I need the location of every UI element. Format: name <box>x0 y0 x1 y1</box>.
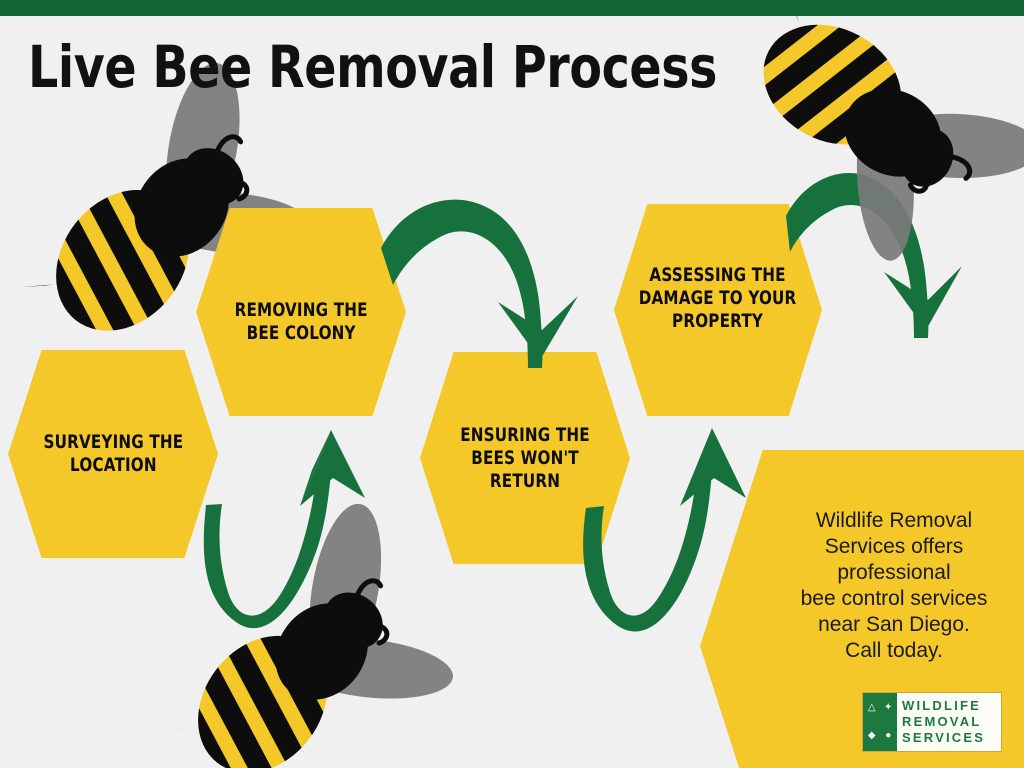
arrow-step2-to-step3 <box>381 200 578 368</box>
bird-icon: △ <box>864 694 880 722</box>
bee-wing-lower <box>283 631 456 706</box>
deer-icon: ✦ <box>881 694 897 722</box>
logo-line-removal: REMOVAL <box>902 714 1001 730</box>
bee-stinger <box>160 712 194 746</box>
top-green-bar <box>0 0 1024 16</box>
step-hexagon-surveying-the-location[interactable]: SURVEYING THE LOCATION <box>8 350 218 558</box>
rodent-icon: ● <box>881 723 897 751</box>
raccoon-icon: ◆ <box>864 723 880 751</box>
bee-wing-lower <box>852 99 919 263</box>
infographic-canvas: Live Bee Removal Process <box>0 0 1024 768</box>
logo-wordmark: WILDLIFE REMOVAL SERVICES <box>897 693 1001 751</box>
bee-head <box>172 136 254 216</box>
bee-head <box>313 581 394 660</box>
step-hexagon-removing-the-bee-colony[interactable]: REMOVING THE BEE COLONY <box>196 208 406 416</box>
step-label: SURVEYING THE LOCATION <box>43 431 183 477</box>
step-hexagon-assessing-the-damage-to-your-property[interactable]: ASSESSING THE DAMAGE TO YOUR PROPERTY <box>614 204 822 416</box>
bee-thorax <box>829 72 957 193</box>
bee-antenna-right <box>909 173 930 194</box>
bee-antenna-left <box>215 133 241 161</box>
arrow-step1-to-step2 <box>204 430 365 628</box>
bee-antenna-left <box>355 577 381 605</box>
bee-antenna-right <box>228 179 250 201</box>
logo-line-wildlife: WILDLIFE <box>902 698 1001 714</box>
step-label: ENSURING THE BEES WON'T RETURN <box>460 424 590 493</box>
bee-thorax <box>256 585 387 718</box>
page-title: Live Bee Removal Process <box>28 36 717 98</box>
bee-abdomen <box>696 0 970 223</box>
bee-antenna-right <box>368 623 390 645</box>
bee-head <box>891 119 963 195</box>
bee-wing-upper <box>871 111 1024 181</box>
bee-antenna-left <box>945 155 974 179</box>
wildlife-removal-services-logo[interactable]: △ ✦ ◆ ● WILDLIFE REMOVAL SERVICES <box>862 692 1002 752</box>
bee-stinger <box>20 270 52 302</box>
logo-animal-icons: △ ✦ ◆ ● <box>863 693 897 751</box>
bee-wing-upper <box>298 498 393 679</box>
left-edge-margin <box>0 16 7 768</box>
step-hexagon-ensuring-the-bees-wont-return[interactable]: ENSURING THE BEES WON'T RETURN <box>420 352 630 564</box>
bee-abdomen <box>120 558 410 768</box>
logo-line-services: SERVICES <box>902 730 1001 746</box>
cta-text: Wildlife Removal Services offers profess… <box>760 508 1024 664</box>
step-label: REMOVING THE BEE COLONY <box>234 299 367 345</box>
step-label: ASSESSING THE DAMAGE TO YOUR PROPERTY <box>639 264 797 333</box>
